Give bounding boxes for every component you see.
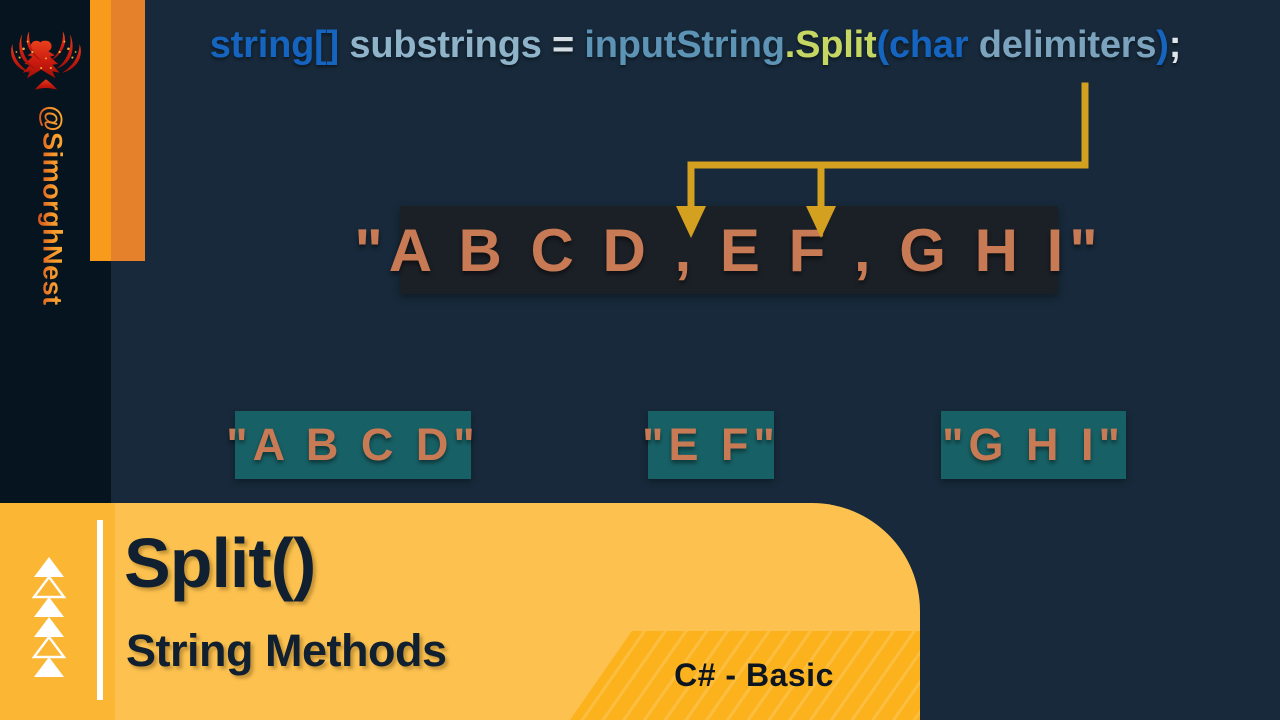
code-token-semi: ; [1169,24,1181,66]
result-text: "E F" [642,419,780,471]
code-token-paren: ( [876,24,888,66]
page-title: Split() [124,528,315,598]
phoenix-logo-icon [6,20,86,100]
result-box: "G H I" [941,411,1126,479]
code-token-space [574,24,584,66]
result-text: "G H I" [942,419,1125,471]
title-divider-rule [97,520,103,700]
code-token-dot: . [785,24,795,66]
code-token-space [339,24,349,66]
code-token-param: delimiters [979,24,1157,66]
result-text: "A B C D" [226,419,480,471]
page-subtitle: String Methods [126,628,446,673]
code-token-kw: char [889,24,968,66]
code-token-space [542,24,552,66]
input-string-box: "A B C D , E F , G H I" [400,206,1058,294]
channel-handle: @SimorghNest [37,96,68,316]
code-token-type: string[] [210,24,339,66]
code-token-space [968,24,978,66]
code-token-method: Split [795,24,876,66]
result-box: "A B C D" [235,411,471,479]
code-token-op: = [552,24,574,66]
code-token-var: substrings [349,24,541,66]
language-badge-label: C# - Basic [570,631,920,720]
accent-bar-primary [90,0,111,261]
code-token-obj: inputString [584,24,784,66]
accent-bar-secondary [111,0,145,261]
code-statement: string[] substrings = inputString.Split(… [111,24,1280,67]
result-box: "E F" [648,411,774,479]
code-token-paren: ) [1156,24,1168,66]
stacked-triangles-icon [31,557,67,677]
input-string-text: "A B C D , E F , G H I" [354,216,1103,285]
